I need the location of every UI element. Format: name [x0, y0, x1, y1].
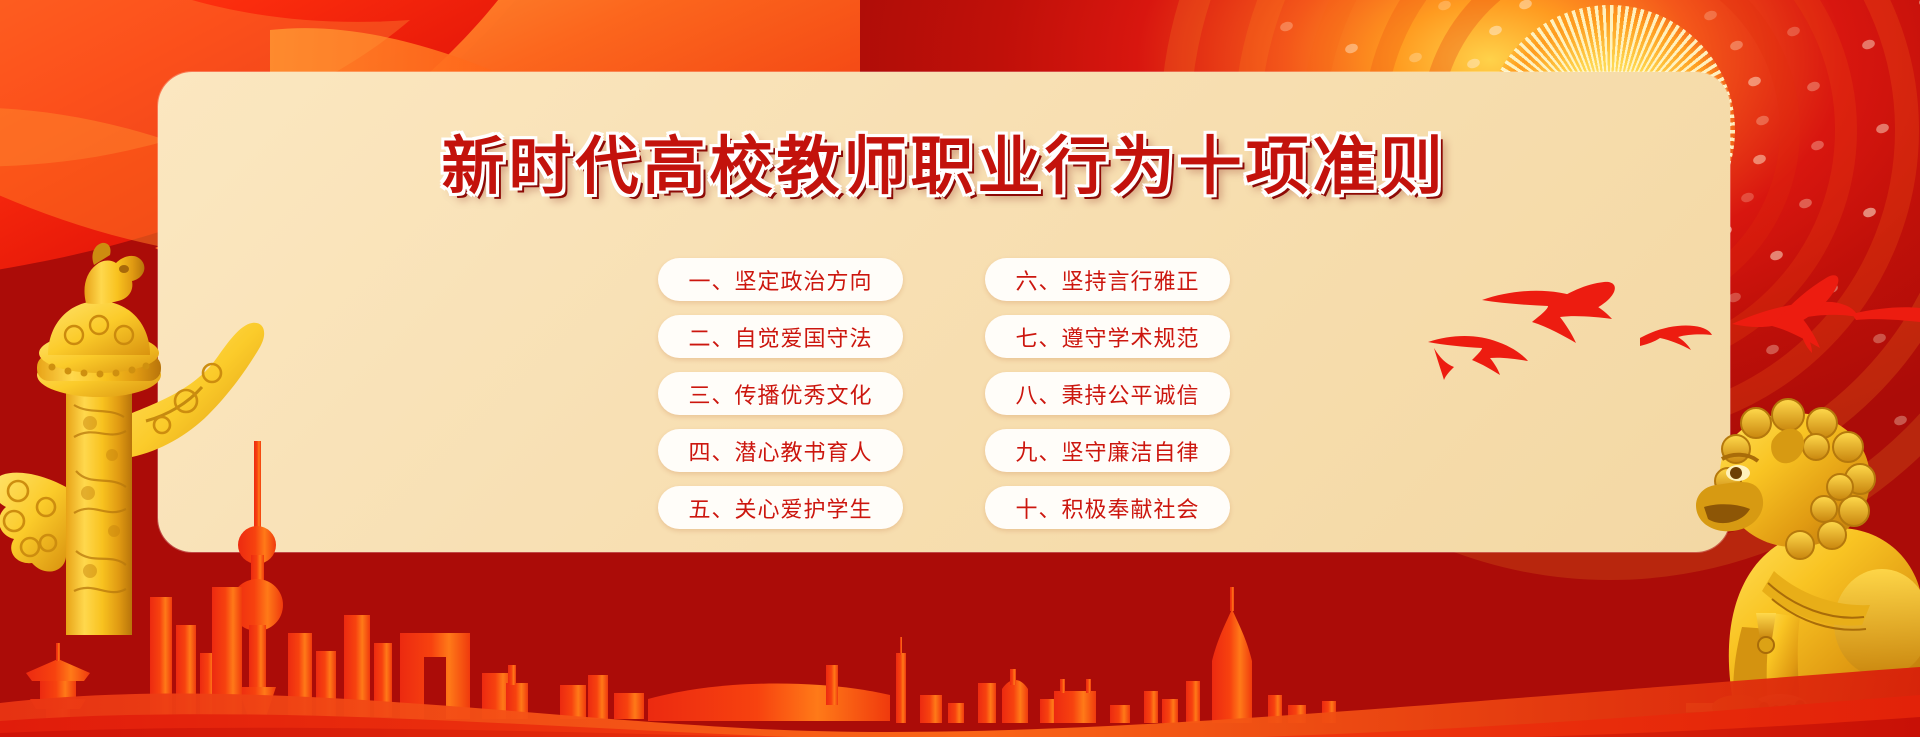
principle-item-7[interactable]: 七、遵守学术规范 [985, 315, 1230, 358]
left-column: 一、坚定政治方向 二、自觉爱国守法 三、传播优秀文化 四、潜心教书育人 五、关心… [658, 258, 903, 529]
principle-item-4[interactable]: 四、潜心教书育人 [658, 429, 903, 472]
principle-item-2[interactable]: 二、自觉爱国守法 [658, 315, 903, 358]
principle-item-6[interactable]: 六、坚持言行雅正 [985, 258, 1230, 301]
principle-item-5[interactable]: 五、关心爱护学生 [658, 486, 903, 529]
page-title: 新时代高校教师职业行为十项准则 [158, 135, 1730, 198]
principle-item-1[interactable]: 一、坚定政治方向 [658, 258, 903, 301]
principle-item-3[interactable]: 三、传播优秀文化 [658, 372, 903, 415]
principle-item-8[interactable]: 八、秉持公平诚信 [985, 372, 1230, 415]
right-column: 六、坚持言行雅正 七、遵守学术规范 八、秉持公平诚信 九、坚守廉洁自律 十、积极… [985, 258, 1230, 529]
poster-canvas: 新时代高校教师职业行为十项准则 [0, 0, 1920, 737]
principle-item-10[interactable]: 十、积极奉献社会 [985, 486, 1230, 529]
principle-item-9[interactable]: 九、坚守廉洁自律 [985, 429, 1230, 472]
principles-list: 一、坚定政治方向 二、自觉爱国守法 三、传播优秀文化 四、潜心教书育人 五、关心… [158, 258, 1730, 529]
